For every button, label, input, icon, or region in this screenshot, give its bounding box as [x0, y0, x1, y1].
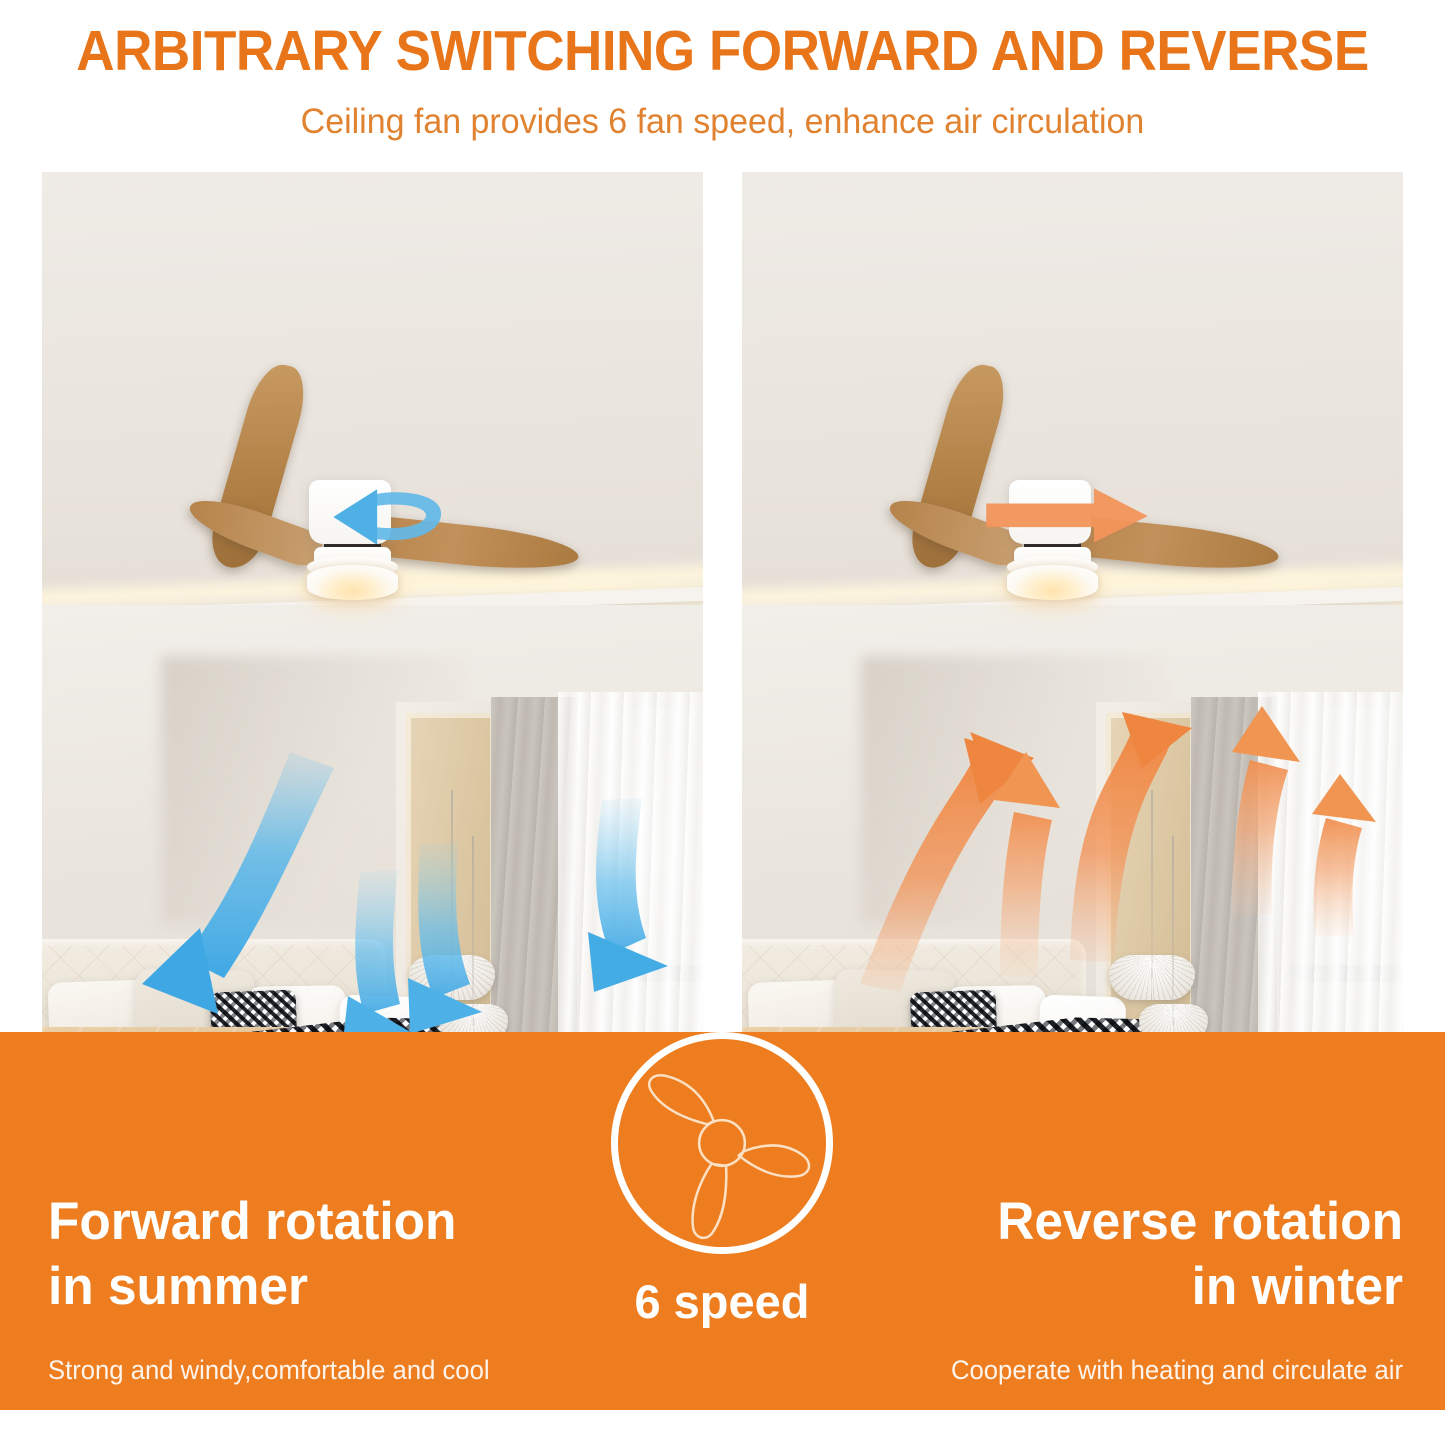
- page-title: ARBITRARY SWITCHING FORWARD AND REVERSE: [51, 22, 1395, 82]
- fan-light: [307, 565, 397, 600]
- arrow-right-icon: [940, 485, 1194, 544]
- pendant-shade: [409, 955, 495, 1000]
- reverse-subtitle: Cooperate with heating and circulate air: [890, 1355, 1403, 1386]
- reverse-title-line1: Reverse rotation: [879, 1190, 1403, 1255]
- pendant-lamp: [1109, 955, 1195, 1000]
- pendant-shade: [1109, 955, 1195, 1000]
- fan-blades-icon: [618, 1039, 826, 1247]
- pendant-lamp: [409, 955, 495, 1000]
- ceiling-fan: [174, 378, 584, 646]
- pendant-cord: [472, 836, 474, 1026]
- reverse-title-line2: in winter: [879, 1255, 1403, 1320]
- fan-light: [1007, 565, 1097, 600]
- pendant-cord: [1172, 836, 1174, 1026]
- banner-right-block: Reverse rotation in winter Cooperate wit…: [863, 1190, 1403, 1386]
- header: ARBITRARY SWITCHING FORWARD AND REVERSE …: [0, 0, 1445, 170]
- fan-speed-badge: [611, 1032, 833, 1254]
- forward-subtitle: Strong and windy,comfortable and cool: [48, 1355, 542, 1386]
- forward-title-line1: Forward rotation: [48, 1190, 552, 1255]
- forward-title-line2: in summer: [48, 1255, 552, 1320]
- pendant-cord: [1151, 790, 1153, 980]
- speed-label: 6 speed: [611, 1274, 833, 1329]
- ceiling-fan: [874, 378, 1284, 646]
- curved-arrow-left-icon: [240, 485, 494, 544]
- banner-left-block: Forward rotation in summer Strong and wi…: [48, 1190, 568, 1386]
- page-subtitle: Ceiling fan provides 6 fan speed, enhanc…: [22, 102, 1424, 142]
- infographic-page: ARBITRARY SWITCHING FORWARD AND REVERSE …: [0, 0, 1445, 1445]
- pendant-cord: [451, 790, 453, 980]
